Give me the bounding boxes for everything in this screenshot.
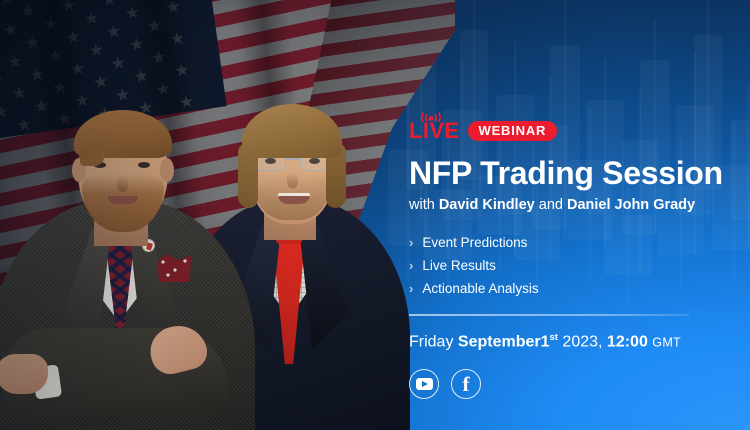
youtube-icon[interactable]	[409, 369, 439, 399]
feature-list: ›Event Predictions›Live Results›Actionab…	[409, 233, 709, 298]
comma: ,	[598, 333, 602, 350]
feature-item-label: Actionable Analysis	[422, 279, 538, 298]
day-suffix: st	[550, 332, 558, 343]
chevron-right-icon: ›	[409, 256, 413, 275]
hair	[242, 104, 342, 158]
presenters-line: with David Kindley and Daniel John Grady	[409, 196, 709, 214]
ear-right	[160, 158, 174, 182]
banner-content: LIVE WEBINAR NFP Trading Session with Da…	[409, 118, 709, 399]
candlestick	[730, 120, 750, 220]
live-label: LIVE	[409, 120, 460, 142]
divider	[409, 314, 689, 316]
hair	[74, 110, 172, 158]
live-label-block: LIVE	[409, 120, 460, 142]
facebook-glyph: f	[463, 374, 470, 395]
weekday: Friday	[409, 333, 453, 350]
mouth	[108, 196, 138, 204]
webinar-banner: ★★★★★★★★★★★★★★★★★★★★★★★★★★★★★★★★★★★★★★★★…	[0, 0, 750, 430]
hand-left	[0, 354, 48, 394]
presenters-photo	[0, 0, 400, 430]
chevron-right-icon: ›	[409, 233, 413, 252]
nose	[287, 172, 298, 188]
eye-right	[138, 162, 150, 168]
social-links: f	[409, 369, 709, 399]
and-word: and	[539, 197, 563, 213]
year: 2023	[562, 333, 598, 350]
webinar-pill-label: WEBINAR	[468, 121, 558, 141]
feature-item: ›Actionable Analysis	[409, 279, 709, 298]
presenter-david-kindley	[0, 100, 255, 430]
presenter-one-name: David Kindley	[439, 197, 535, 213]
month: September	[458, 333, 541, 350]
chevron-right-icon: ›	[409, 279, 413, 298]
feature-item: ›Live Results	[409, 256, 709, 275]
pocket-square	[157, 254, 191, 282]
feature-item-label: Live Results	[422, 256, 496, 275]
feature-item: ›Event Predictions	[409, 233, 709, 252]
event-datetime: Friday September1st 2023, 12:00 GMT	[409, 328, 709, 352]
broadcast-signal-icon	[420, 111, 442, 122]
feature-item-label: Event Predictions	[422, 233, 527, 252]
time: 12:00	[607, 333, 648, 350]
glasses-bridge	[286, 158, 300, 160]
live-webinar-badge: LIVE WEBINAR	[409, 118, 709, 144]
play-triangle-icon	[422, 381, 428, 387]
timezone: GMT	[652, 335, 681, 349]
youtube-glyph	[416, 378, 433, 390]
candlestick-body	[730, 120, 750, 220]
presenter-two-name: Daniel John Grady	[567, 197, 695, 213]
webinar-title: NFP Trading Session	[409, 155, 709, 191]
facebook-icon[interactable]: f	[451, 369, 481, 399]
nose	[117, 176, 128, 192]
day: 1	[541, 333, 550, 350]
mouth	[278, 193, 310, 204]
with-word: with	[409, 197, 435, 213]
